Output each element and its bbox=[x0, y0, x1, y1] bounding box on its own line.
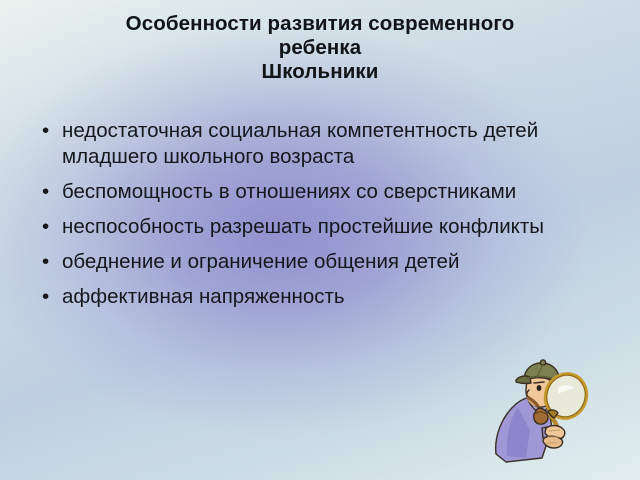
list-item: • неспособность разрешать простейшие кон… bbox=[28, 214, 600, 240]
list-item-text: беспомощность в отношениях со сверстника… bbox=[62, 179, 600, 205]
slide-canvas: Особенности развития современного ребенк… bbox=[0, 0, 640, 480]
list-item-text: аффективная напряженность bbox=[62, 284, 600, 310]
bullet-icon: • bbox=[42, 249, 49, 275]
bullet-icon: • bbox=[42, 118, 49, 144]
title-line-1: Особенности развития современного bbox=[42, 12, 598, 36]
bullet-icon: • bbox=[42, 179, 49, 205]
list-item: • недостаточная социальная компетентност… bbox=[28, 118, 600, 170]
detective-with-magnifying-glass-icon bbox=[486, 358, 606, 468]
bullet-list: • недостаточная социальная компетентност… bbox=[28, 118, 600, 319]
pipe-bowl bbox=[534, 408, 548, 424]
title-line-3: Школьники bbox=[42, 60, 598, 84]
list-item: • обеднение и ограничение общения детей bbox=[28, 249, 600, 275]
list-item-text: обеднение и ограничение общения детей bbox=[62, 249, 600, 275]
eyebrow bbox=[534, 382, 544, 383]
list-item-text: недостаточная социальная компетентность … bbox=[62, 118, 600, 170]
bullet-icon: • bbox=[42, 214, 49, 240]
eye bbox=[537, 385, 542, 391]
title-line-2: ребенка bbox=[42, 36, 598, 60]
slide-title: Особенности развития современного ребенк… bbox=[42, 12, 598, 84]
list-item-text: неспособность разрешать простейшие конфл… bbox=[62, 214, 600, 240]
detective-illustration bbox=[486, 358, 606, 468]
list-item: • беспомощность в отношениях со сверстни… bbox=[28, 179, 600, 205]
bullet-icon: • bbox=[42, 284, 49, 310]
list-item: • аффективная напряженность bbox=[28, 284, 600, 310]
